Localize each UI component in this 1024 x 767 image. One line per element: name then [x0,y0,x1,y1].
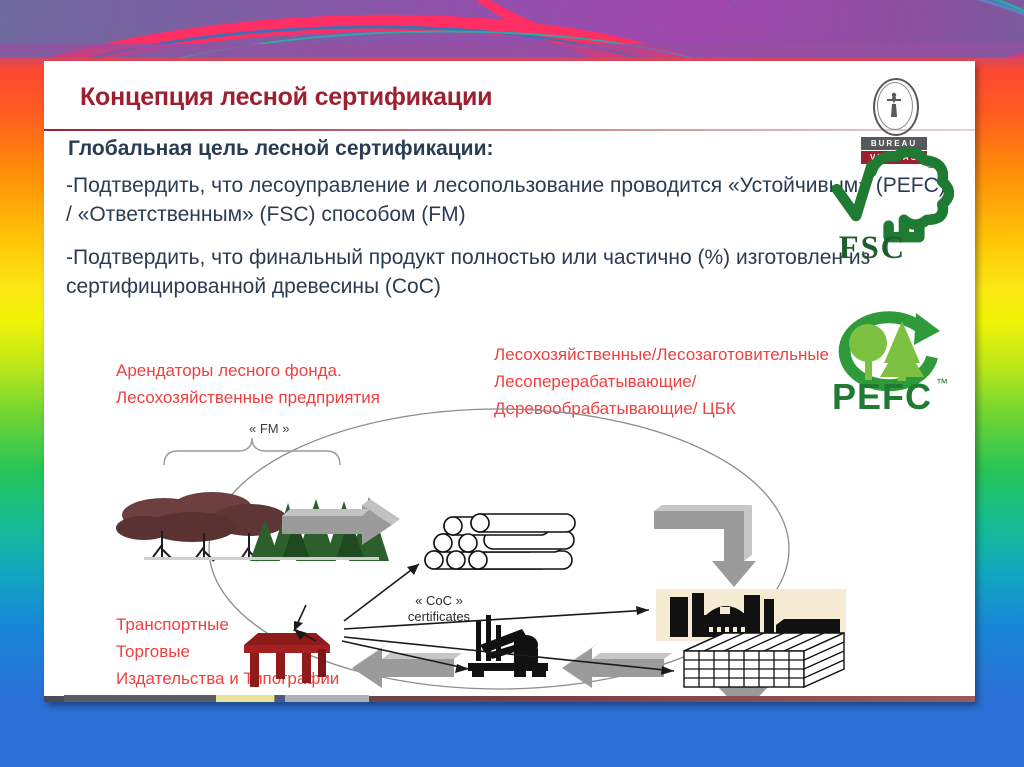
title-divider [44,129,975,131]
bureau-veritas-emblem-icon [870,78,918,134]
pefc-trademark-symbol: ™ [936,376,948,390]
pefc-wordmark: PEFC [832,376,932,411]
pefc-logo: PEFC ™ [824,301,954,416]
fsc-copyright-symbol: © [925,154,937,172]
logs-stack-icon [425,514,575,569]
emblem-figure-icon [885,90,903,120]
forest-brace-icon [164,438,340,465]
fsc-logo: © FSC [829,147,954,267]
playback-progress-bar[interactable] [64,695,369,702]
fsc-wordmark: FSC [839,230,906,262]
page-title: Концепция лесной сертификации [80,83,492,112]
progress-handle[interactable] [275,695,285,702]
callout-right-line-1: Лесохозяйственные/Лесозаготовительные [494,341,829,368]
arrow-down-to-table-icon [294,605,306,631]
arrow-logs-to-mill-icon [654,505,756,587]
section-subtitle: Глобальная цель лесной сертификации: [68,137,493,161]
progress-fill [216,695,275,702]
supply-chain-diagram: « CoC » certificates [44,401,975,701]
progress-track-left [64,695,216,702]
presentation-viewer: Концепция лесной сертификации BUREAU VER… [0,0,1024,767]
callout-right-line-2: Лесоперерабатывающие/ [494,368,829,395]
lumber-stack-icon [684,633,844,687]
callout-left-line-1: Арендаторы лесного фонда. [116,357,380,384]
body-paragraph-1: -Подтвердить, что лесоуправление и лесоп… [66,171,946,229]
fsc-mark-icon: © FSC [829,147,954,262]
arrow-sawmill-to-table-icon [352,642,462,688]
coc-label-line-1: « CoC » [384,593,494,609]
coc-label-line-2: certificates [384,609,494,625]
coc-center-label: « CoC » certificates [384,593,494,625]
body-paragraph-2: -Подтвердить, что финальный продукт полн… [66,243,946,301]
progress-track-right [285,695,369,702]
slide-canvas: Концепция лесной сертификации BUREAU VER… [44,61,975,702]
table-icon [244,633,330,687]
pefc-mark-icon: PEFC ™ [824,301,954,411]
